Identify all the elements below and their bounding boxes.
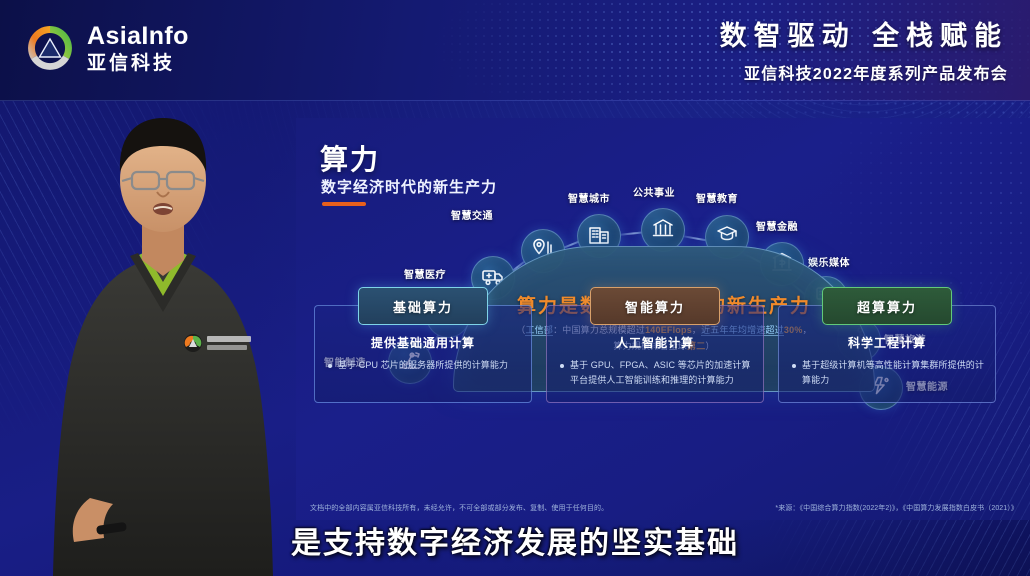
event-banner: AsiaInfo 亚信科技 数智驱动 全栈赋能 亚信科技2022年度系列产品发布…	[0, 0, 1030, 101]
brand-logo: AsiaInfo 亚信科技	[24, 22, 189, 74]
capability-body-basic: 基于 CPU 芯片的服务器所提供的计算能力	[327, 358, 521, 373]
slide-footer: 文档中的全部内容属亚信科技所有，未经允许，不可全部或部分发布、复制、使用于任何目…	[310, 503, 1018, 513]
subtitle-caption: 是支持数字经济发展的坚实基础	[0, 518, 1030, 562]
capability-chip-intelligent: 智能算力	[590, 287, 720, 325]
event-slogan: 数智驱动 全栈赋能 亚信科技2022年度系列产品发布会	[720, 14, 1008, 84]
presentation-slide: 算力 数字经济时代的新生产力 智能制造	[296, 118, 1030, 520]
title-underline-rule	[322, 202, 366, 206]
asiainfo-logo-icon	[24, 22, 76, 74]
capability-chip-basic: 基础算力	[358, 287, 488, 325]
capability-chip-supercomputing: 超算算力	[822, 287, 952, 325]
slogan-subline: 亚信科技2022年度系列产品发布会	[720, 60, 1008, 84]
capability-card-basic[interactable]: 基础算力 提供基础通用计算 基于 CPU 芯片的服务器所提供的计算能力	[314, 305, 532, 403]
capability-card-intelligent[interactable]: 智能算力 人工智能计算 基于 GPU、FPGA、ASIC 等芯片的加速计算平台提…	[546, 305, 764, 403]
page-title: 算力	[320, 138, 380, 178]
logo-text-en: AsiaInfo	[87, 24, 189, 49]
capability-heading-intelligent: 人工智能计算	[547, 334, 763, 351]
video-frame: AsiaInfo 亚信科技 数智驱动 全栈赋能 亚信科技2022年度系列产品发布…	[0, 0, 1030, 576]
capability-body-intelligent: 基于 GPU、FPGA、ASIC 等芯片的加速计算平台提供人工智能训练和推理的计…	[559, 358, 753, 389]
source-citation: *来源：《中国综合算力指数(2022年2)》，《中国算力发展指数白皮书（2021…	[775, 503, 1018, 513]
capability-heading-basic: 提供基础通用计算	[315, 334, 531, 351]
capability-heading-supercomputing: 科学工程计算	[779, 334, 995, 351]
logo-text-cn: 亚信科技	[87, 54, 189, 73]
page-subtitle: 数字经济时代的新生产力	[321, 176, 497, 197]
capability-body-supercomputing: 基于超级计算机等高性能计算集群所提供的计算能力	[791, 358, 985, 389]
presenter-figure	[38, 106, 288, 576]
slogan-headline: 数智驱动 全栈赋能	[720, 14, 1008, 53]
capability-card-supercomputing[interactable]: 超算算力 科学工程计算 基于超级计算机等高性能计算集群所提供的计算能力	[778, 305, 996, 403]
copyright-disclaimer: 文档中的全部内容属亚信科技所有，未经允许，不可全部或部分发布、复制、使用于任何目…	[310, 503, 608, 513]
